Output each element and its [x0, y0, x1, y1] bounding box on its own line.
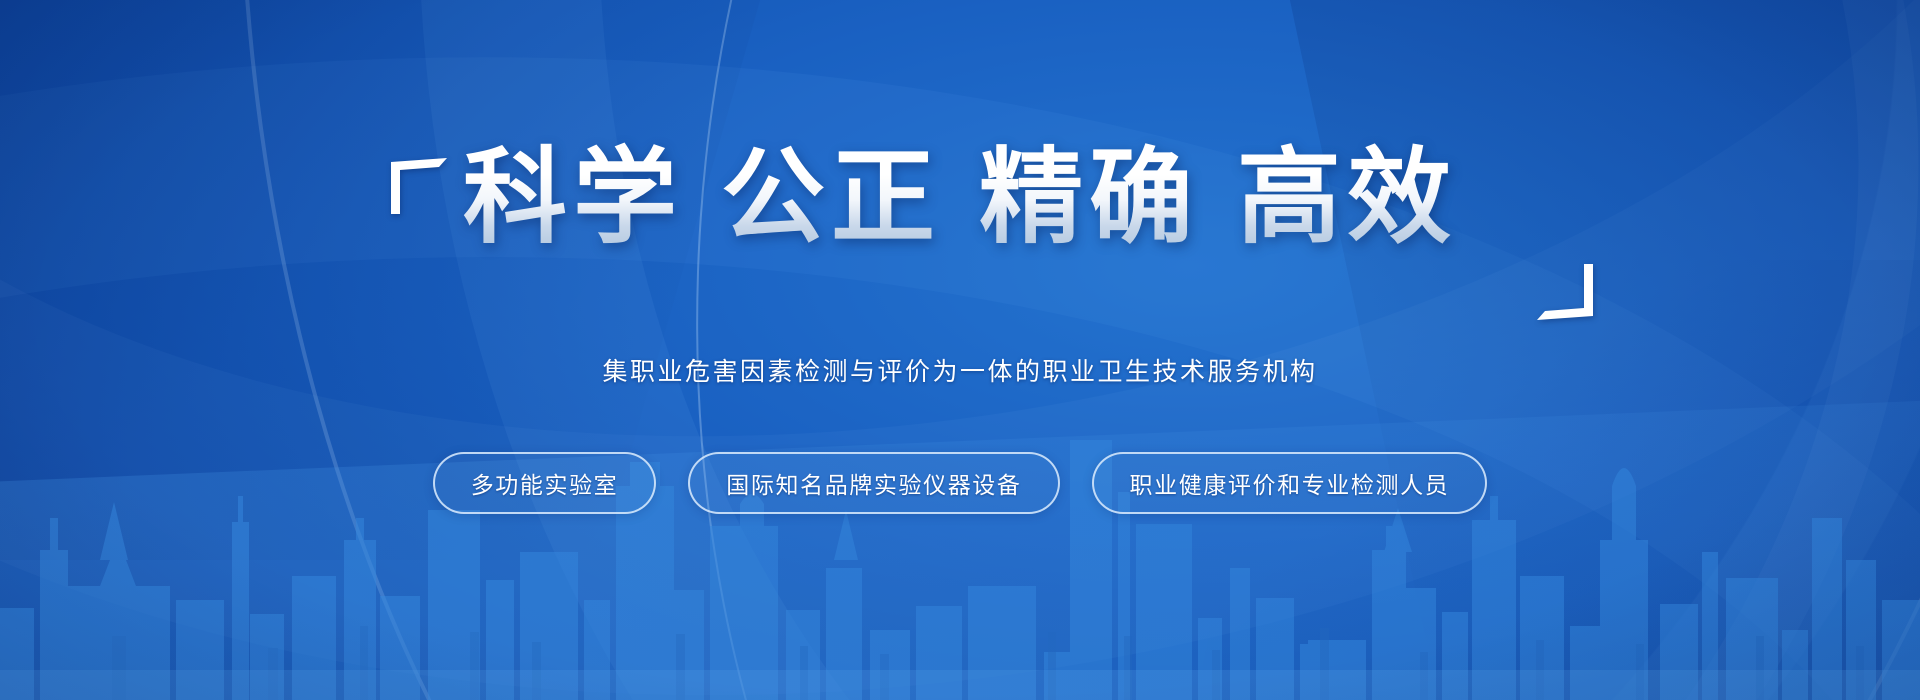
headline-block: 科学公正精确高效: [0, 140, 1920, 256]
hero-banner: 科学公正精确高效 集职业危害因素检测与评价为一体的职业卫生技术服务机构 多功能实…: [0, 0, 1920, 700]
page-title: 科学公正精确高效: [463, 140, 1457, 256]
headline-word-1: 科学: [463, 140, 683, 256]
feature-pill-group: 多功能实验室 国际知名品牌实验仪器设备 职业健康评价和专业检测人员: [0, 452, 1920, 514]
feature-pill-equipment[interactable]: 国际知名品牌实验仪器设备: [688, 452, 1059, 514]
vignette-overlay: [0, 0, 1920, 700]
subtitle: 集职业危害因素检测与评价为一体的职业卫生技术服务机构: [0, 352, 1920, 388]
feature-pill-lab[interactable]: 多功能实验室: [433, 452, 657, 514]
headline-word-3: 精确: [979, 140, 1199, 256]
headline-word-2: 公正: [721, 140, 941, 256]
headline-word-4: 高效: [1237, 140, 1457, 256]
feature-pill-personnel[interactable]: 职业健康评价和专业检测人员: [1092, 452, 1488, 514]
